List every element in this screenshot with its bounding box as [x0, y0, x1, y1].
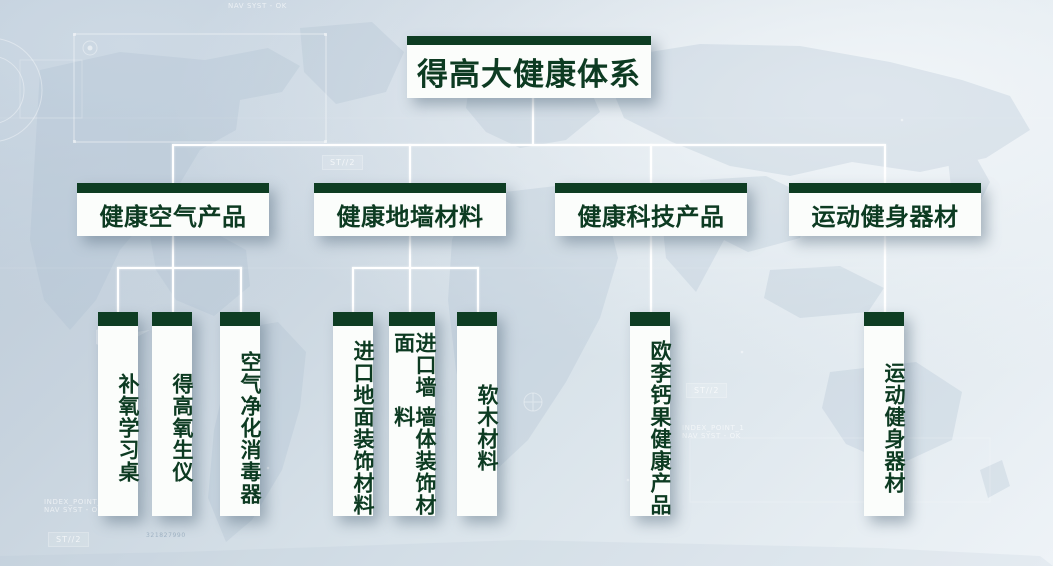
wire-level2-bus [173, 144, 885, 146]
wire-g1-leaf-1 [117, 267, 119, 312]
node-leaf-imported-floor[interactable]: 进口地面装饰材料 [333, 312, 373, 516]
wire-g2-stem [409, 236, 411, 268]
hud-label-index-right: INDEX_POINT_1 NAV SYST - OK [682, 424, 744, 440]
hud-label-serial: 321827990 [146, 532, 186, 539]
wire-g2-leaf-1 [352, 267, 354, 312]
node-root-accent-bar [407, 36, 651, 45]
hud-label-nav-top: NAV SYST - OK [228, 2, 287, 10]
leaf-oxygen-desk-label: 补氧学习桌 [98, 326, 138, 516]
node-leaf-oli-calcium-fruit[interactable]: 欧李钙果健康产品 [630, 312, 670, 516]
wire-g1-leaf-3 [240, 267, 242, 312]
node-group-tech[interactable]: 健康科技产品 [555, 183, 747, 236]
leaf-fitness-equipment-label: 运动健身器材 [864, 326, 904, 516]
node-group-floor-wall[interactable]: 健康地墙材料 [314, 183, 506, 236]
node-root-label: 得高大健康体系 [407, 45, 651, 98]
leaf-imported-floor-accent-bar [333, 312, 373, 326]
wire-g3-stem [650, 236, 652, 312]
group-floor-wall-label: 健康地墙材料 [314, 193, 506, 236]
node-leaf-oxygen-generator[interactable]: 得高氧生仪 [152, 312, 192, 516]
node-leaf-air-purifier[interactable]: 空气净化消毒器 [220, 312, 260, 516]
group-tech-label: 健康科技产品 [555, 193, 747, 236]
leaf-oli-calcium-fruit-label: 欧李钙果健康产品 [630, 326, 670, 516]
leaf-oxygen-desk-accent-bar [98, 312, 138, 326]
node-leaf-imported-wall[interactable]: 进口墙面墙体装饰材料 [389, 312, 435, 516]
node-root[interactable]: 得高大健康体系 [407, 36, 651, 98]
group-fitness-accent-bar [789, 183, 981, 193]
wire-group-drop-2 [409, 144, 411, 183]
wire-g4-stem [884, 236, 886, 312]
wire-g2-leaf-3 [477, 267, 479, 312]
group-fitness-label: 运动健身器材 [789, 193, 981, 236]
wire-g2-bus [353, 267, 479, 269]
leaf-imported-wall-label-primary: 进口墙面 [392, 332, 435, 406]
leaf-imported-floor-label: 进口地面装饰材料 [333, 326, 373, 516]
leaf-fitness-equipment-accent-bar [864, 312, 904, 326]
leaf-imported-wall-label-secondary: 墙体装饰材料 [392, 406, 435, 516]
leaf-cork-material-label: 软木材料 [457, 326, 497, 516]
group-floor-wall-accent-bar [314, 183, 506, 193]
leaf-imported-wall-text-block: 进口墙面墙体装饰材料 [389, 326, 435, 516]
diagram-canvas: NAV SYST - OK INDEX_POINT_1 NAV SYST - O… [0, 0, 1053, 566]
node-leaf-fitness-equipment[interactable]: 运动健身器材 [864, 312, 904, 516]
node-group-air[interactable]: 健康空气产品 [77, 183, 269, 236]
wire-g2-leaf-2 [409, 267, 411, 312]
group-air-accent-bar [77, 183, 269, 193]
node-leaf-oxygen-desk[interactable]: 补氧学习桌 [98, 312, 138, 516]
wire-g1-bus [118, 267, 242, 269]
wire-group-drop-1 [172, 144, 174, 183]
leaf-imported-wall-accent-bar [389, 312, 435, 326]
hud-chip-st-right: ST//2 [686, 383, 727, 398]
group-tech-accent-bar [555, 183, 747, 193]
leaf-oli-calcium-fruit-accent-bar [630, 312, 670, 326]
group-air-label: 健康空气产品 [77, 193, 269, 236]
wire-g1-leaf-2 [172, 267, 174, 312]
wire-g1-stem [172, 236, 174, 268]
wire-group-drop-3 [650, 144, 652, 183]
wire-group-drop-4 [884, 144, 886, 183]
leaf-oxygen-generator-accent-bar [152, 312, 192, 326]
leaf-oxygen-generator-label: 得高氧生仪 [152, 326, 192, 516]
node-leaf-cork-material[interactable]: 软木材料 [457, 312, 497, 516]
leaf-air-purifier-accent-bar [220, 312, 260, 326]
hud-chip-st-mid: ST//2 [322, 155, 363, 170]
node-group-fitness[interactable]: 运动健身器材 [789, 183, 981, 236]
leaf-air-purifier-label: 空气净化消毒器 [220, 326, 260, 516]
leaf-cork-material-accent-bar [457, 312, 497, 326]
hud-chip-st-left: ST//2 [48, 532, 89, 547]
